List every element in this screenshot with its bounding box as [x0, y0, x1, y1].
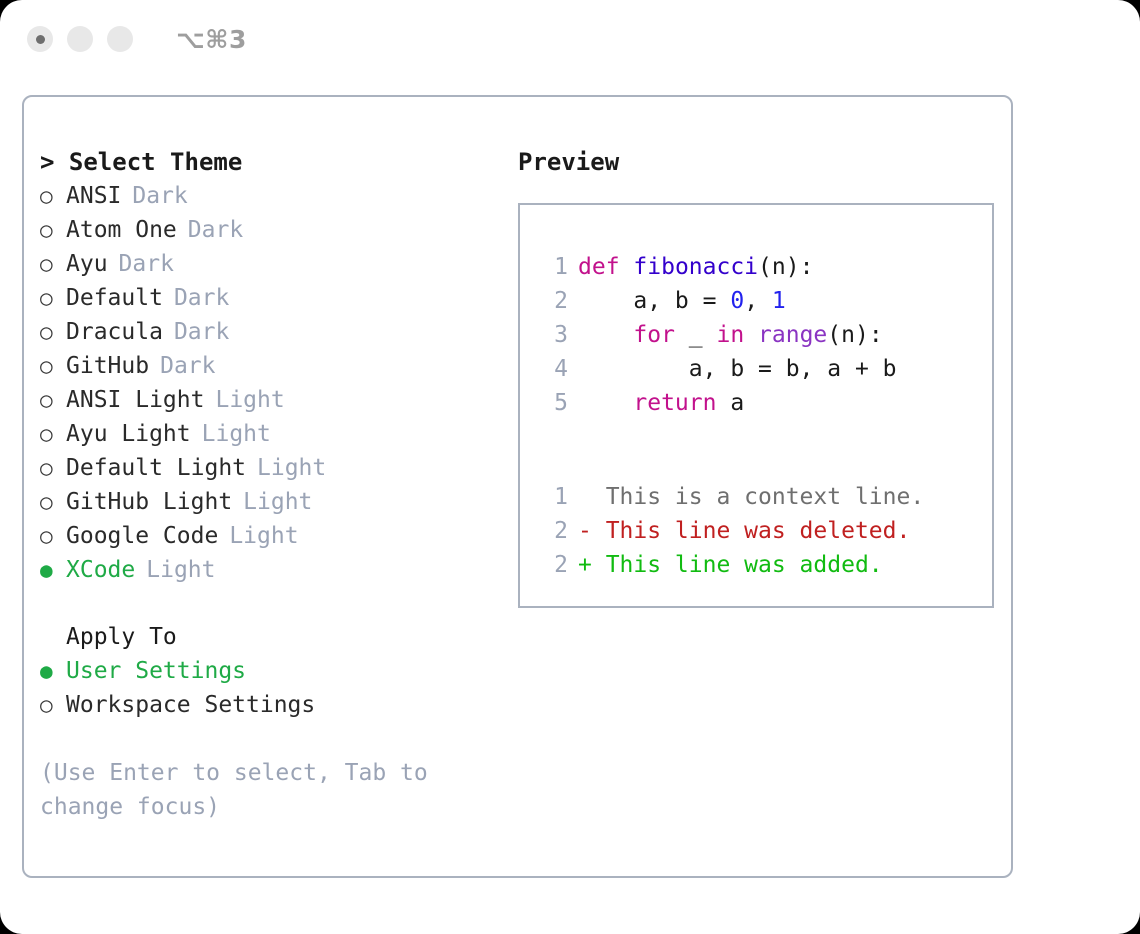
diff-line: 2+ This line was added. [538, 548, 992, 582]
app-window: ⌥⌘3 > Select Theme ○ANSIDark○Atom OneDar… [0, 0, 1140, 934]
theme-picker-panel: > Select Theme ○ANSIDark○Atom OneDark○Ay… [22, 95, 1013, 878]
code-line-text: return a [578, 386, 744, 420]
radio-unselected-icon: ○ [40, 315, 66, 349]
code-token-pun [620, 254, 634, 280]
diff-line-text-ctx: This is a context line. [578, 480, 924, 514]
theme-option-label: Ayu Light [66, 417, 191, 451]
diff-line-number: 2 [538, 514, 568, 548]
code-line: 2 a, b = 0, 1 [538, 284, 992, 318]
radio-selected-icon: ● [40, 654, 66, 688]
apply-to-option-label: User Settings [66, 654, 246, 688]
theme-option-label: XCode [66, 553, 135, 587]
theme-option-ansi-light[interactable]: ○ANSI LightLight [40, 383, 502, 417]
apply-to-heading: Apply To [40, 620, 502, 654]
code-token-var: _ [675, 322, 717, 348]
diff-line: 1 This is a context line. [538, 480, 992, 514]
theme-variant-badge: Light [215, 383, 284, 417]
code-token-pun: ): [786, 254, 814, 280]
apply-to-option-workspace-settings[interactable]: ○Workspace Settings [40, 688, 502, 722]
traffic-dot-2[interactable] [67, 26, 93, 52]
code-token-kw: def [578, 254, 620, 280]
theme-option-google-code[interactable]: ○Google CodeLight [40, 519, 502, 553]
theme-variant-badge: Dark [188, 213, 243, 247]
diff-line-number: 2 [538, 548, 568, 582]
preview-heading: Preview [518, 145, 1011, 179]
theme-option-xcode[interactable]: ●XCodeLight [40, 553, 502, 587]
theme-option-label: ANSI [66, 179, 121, 213]
code-token-var: a, b = b, a + b [578, 356, 897, 382]
theme-option-label: Atom One [66, 213, 177, 247]
theme-option-default[interactable]: ○DefaultDark [40, 281, 502, 315]
theme-variant-badge: Dark [174, 315, 229, 349]
diff-line-number: 1 [538, 480, 568, 514]
code-line-text: a, b = b, a + b [578, 352, 897, 386]
code-line: 3 for _ in range(n): [538, 318, 992, 352]
code-token-kw: for [633, 322, 675, 348]
theme-option-github-light[interactable]: ○GitHub LightLight [40, 485, 502, 519]
title-bar: ⌥⌘3 [0, 0, 1140, 78]
code-token-pun [578, 390, 633, 416]
code-line-number: 4 [538, 352, 568, 386]
code-line-number: 1 [538, 250, 568, 284]
code-line-text: for _ in range(n): [578, 318, 883, 352]
code-token-var: n [772, 254, 786, 280]
theme-variant-badge: Light [229, 519, 298, 553]
radio-unselected-icon: ○ [40, 485, 66, 519]
theme-option-default-light[interactable]: ○Default LightLight [40, 451, 502, 485]
list-gap [40, 587, 502, 620]
theme-variant-badge: Dark [174, 281, 229, 315]
theme-list[interactable]: ○ANSIDark○Atom OneDark○AyuDark○DefaultDa… [40, 179, 502, 587]
theme-option-dracula[interactable]: ○DraculaDark [40, 315, 502, 349]
diff-line: 2- This line was deleted. [538, 514, 992, 548]
code-token-pun: ( [827, 322, 841, 348]
select-theme-heading: > Select Theme [40, 145, 502, 179]
code-token-call: range [758, 322, 827, 348]
code-line: 1def fibonacci(n): [538, 250, 992, 284]
radio-unselected-icon: ○ [40, 247, 66, 281]
theme-option-github[interactable]: ○GitHubDark [40, 349, 502, 383]
code-token-kw: return [633, 390, 716, 416]
theme-option-label: ANSI Light [66, 383, 204, 417]
keyboard-shortcut-label: ⌥⌘3 [176, 25, 247, 54]
code-diff-gap [538, 420, 992, 480]
keyboard-hint-text: (Use Enter to select, Tab to change focu… [40, 756, 458, 824]
code-line: 4 a, b = b, a + b [538, 352, 992, 386]
theme-variant-badge: Dark [132, 179, 187, 213]
code-line-number: 3 [538, 318, 568, 352]
theme-option-ayu[interactable]: ○AyuDark [40, 247, 502, 281]
theme-option-label: Default [66, 281, 163, 315]
radio-unselected-icon: ○ [40, 688, 66, 722]
radio-unselected-icon: ○ [40, 451, 66, 485]
apply-to-list[interactable]: ●User Settings○Workspace Settings [40, 654, 502, 722]
theme-variant-badge: Dark [119, 247, 174, 281]
theme-list-column: > Select Theme ○ANSIDark○Atom OneDark○Ay… [40, 145, 502, 824]
diff-line-text-del: - This line was deleted. [578, 514, 910, 548]
diff-sample: 1 This is a context line.2- This line wa… [538, 480, 992, 582]
theme-option-atom-one[interactable]: ○Atom OneDark [40, 213, 502, 247]
code-token-fn: fibonacci [633, 254, 758, 280]
radio-unselected-icon: ○ [40, 179, 66, 213]
radio-unselected-icon: ○ [40, 383, 66, 417]
radio-unselected-icon: ○ [40, 213, 66, 247]
traffic-dot-active-inner [36, 35, 45, 44]
preview-box: 1def fibonacci(n):2 a, b = 0, 13 for _ i… [518, 203, 994, 608]
code-line: 5 return a [538, 386, 992, 420]
theme-option-ayu-light[interactable]: ○Ayu LightLight [40, 417, 502, 451]
theme-option-label: GitHub [66, 349, 149, 383]
traffic-dot-active[interactable] [27, 26, 53, 52]
theme-variant-badge: Light [146, 553, 215, 587]
preview-column: Preview 1def fibonacci(n):2 a, b = 0, 13… [518, 145, 1011, 608]
code-line-text: a, b = 0, 1 [578, 284, 786, 318]
theme-variant-badge: Light [202, 417, 271, 451]
theme-variant-badge: Dark [160, 349, 215, 383]
radio-selected-icon: ● [40, 553, 66, 587]
theme-option-label: Default Light [66, 451, 246, 485]
traffic-dot-3[interactable] [107, 26, 133, 52]
code-token-var: n [841, 322, 855, 348]
code-line-number: 2 [538, 284, 568, 318]
code-token-var: a [716, 390, 744, 416]
code-token-pun [744, 322, 758, 348]
code-token-pun [578, 322, 633, 348]
theme-option-label: Google Code [66, 519, 218, 553]
code-token-kw: in [716, 322, 744, 348]
code-sample: 1def fibonacci(n):2 a, b = 0, 13 for _ i… [538, 250, 992, 420]
radio-unselected-icon: ○ [40, 519, 66, 553]
radio-unselected-icon: ○ [40, 349, 66, 383]
code-line-text: def fibonacci(n): [578, 250, 813, 284]
theme-variant-badge: Light [257, 451, 326, 485]
code-token-pun: ): [855, 322, 883, 348]
theme-variant-badge: Light [243, 485, 312, 519]
code-token-var: a, b = [578, 288, 730, 314]
diff-line-text-add: + This line was added. [578, 548, 883, 582]
code-token-num: 0 [730, 288, 744, 314]
code-token-num: 1 [772, 288, 786, 314]
theme-option-label: GitHub Light [66, 485, 232, 519]
apply-to-option-label: Workspace Settings [66, 688, 315, 722]
theme-option-ansi[interactable]: ○ANSIDark [40, 179, 502, 213]
theme-option-label: Dracula [66, 315, 163, 349]
code-token-pun: , [744, 288, 772, 314]
apply-to-option-user-settings[interactable]: ●User Settings [40, 654, 502, 688]
code-line-number: 5 [538, 386, 568, 420]
radio-unselected-icon: ○ [40, 281, 66, 315]
radio-unselected-icon: ○ [40, 417, 66, 451]
theme-option-label: Ayu [66, 247, 108, 281]
code-token-pun: ( [758, 254, 772, 280]
